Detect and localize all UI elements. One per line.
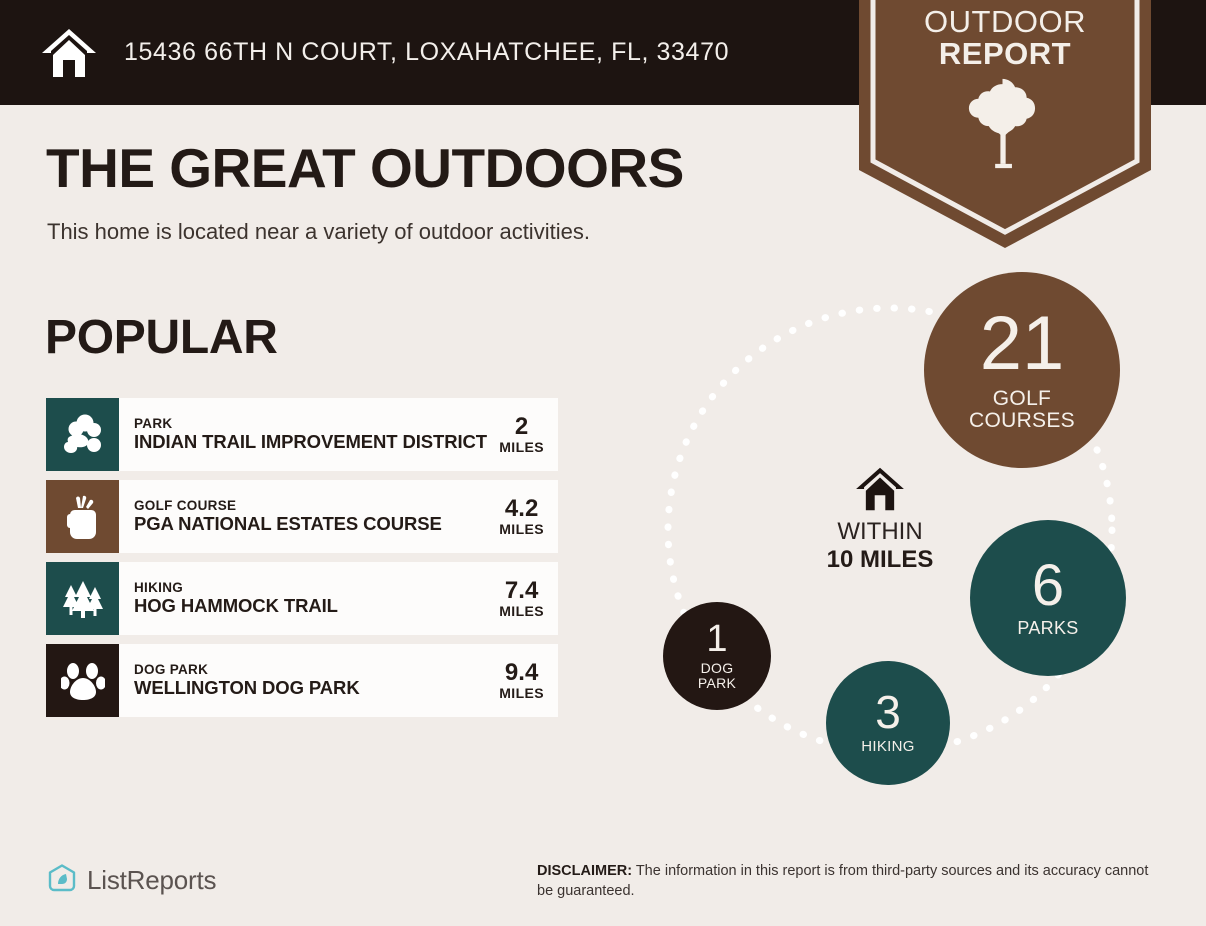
bubble-label: HIKING xyxy=(861,739,914,755)
bubble-parks: 6 PARKS xyxy=(970,520,1126,676)
footer: ListReports DISCLAIMER: The information … xyxy=(0,848,1206,926)
bubble-count: 1 xyxy=(706,621,727,657)
golf-bag-icon xyxy=(46,480,119,553)
bubble-label: PARKS xyxy=(1017,619,1078,638)
list-item-name: PGA NATIONAL ESTATES COURSE xyxy=(134,514,493,535)
property-address: 15436 66TH N COURT, LOXAHATCHEE, FL, 334… xyxy=(124,38,729,67)
list-item-distance: 7.4 MILES xyxy=(493,578,552,619)
list-item[interactable]: HIKING HOG HAMMOCK TRAIL 7.4 MILES xyxy=(46,562,558,635)
list-item-distance: 2 MILES xyxy=(493,414,552,455)
distance-unit: MILES xyxy=(499,439,544,455)
distance-unit: MILES xyxy=(499,685,544,701)
list-item-distance: 4.2 MILES xyxy=(493,496,552,537)
distance-unit: MILES xyxy=(499,603,544,619)
list-item[interactable]: PARK INDIAN TRAIL IMPROVEMENT DISTRICT 2… xyxy=(46,398,558,471)
list-item-name: HOG HAMMOCK TRAIL xyxy=(134,596,493,617)
list-item[interactable]: GOLF COURSE PGA NATIONAL ESTATES COURSE … xyxy=(46,480,558,553)
bubble-count: 3 xyxy=(875,691,901,735)
list-item-distance: 9.4 MILES xyxy=(493,660,552,701)
park-bush-icon xyxy=(46,398,119,471)
list-item-name: INDIAN TRAIL IMPROVEMENT DISTRICT xyxy=(134,432,493,453)
list-item-category: HIKING xyxy=(134,580,493,596)
distance-value: 7.4 xyxy=(499,578,544,603)
bubble-count: 21 xyxy=(980,308,1065,380)
disclaimer: DISCLAIMER: The information in this repo… xyxy=(537,862,1167,901)
list-item-category: PARK xyxy=(134,416,493,432)
bubble-count: 6 xyxy=(1032,558,1064,613)
list-item[interactable]: DOG PARK WELLINGTON DOG PARK 9.4 MILES xyxy=(46,644,558,717)
pine-trees-icon xyxy=(46,562,119,635)
home-icon xyxy=(790,466,970,512)
distance-unit: MILES xyxy=(499,521,544,537)
distance-value: 9.4 xyxy=(499,660,544,685)
list-item-name: WELLINGTON DOG PARK xyxy=(134,678,493,699)
brand-logo[interactable]: ListReports xyxy=(46,862,216,899)
paw-print-icon xyxy=(46,644,119,717)
listreports-house-pin-icon xyxy=(46,862,78,899)
disclaimer-label: DISCLAIMER: xyxy=(537,863,632,879)
center-line-2: 10 MILES xyxy=(790,546,970,574)
bubble-dog-park: 1 DOG PARK xyxy=(663,602,771,710)
bubble-hiking: 3 HIKING xyxy=(826,661,950,785)
distance-value: 2 xyxy=(499,414,544,439)
diagram-center-label: WITHIN 10 MILES xyxy=(790,466,970,573)
distance-value: 4.2 xyxy=(499,496,544,521)
popular-heading: POPULAR xyxy=(45,314,278,362)
list-item-category: DOG PARK xyxy=(134,662,493,678)
bubble-label: GOLF COURSES xyxy=(969,388,1075,432)
bubble-golf-courses: 21 GOLF COURSES xyxy=(924,272,1120,468)
outdoor-report-page: 15436 66TH N COURT, LOXAHATCHEE, FL, 334… xyxy=(0,0,1206,926)
list-item-category: GOLF COURSE xyxy=(134,498,493,514)
page-title: THE GREAT OUTDOORS xyxy=(46,141,684,196)
bubble-label: DOG PARK xyxy=(698,661,736,690)
popular-list: PARK INDIAN TRAIL IMPROVEMENT DISTRICT 2… xyxy=(46,398,558,726)
outdoor-report-badge: OUTDOOR REPORT xyxy=(859,0,1151,250)
center-line-1: WITHIN xyxy=(790,518,970,546)
home-icon xyxy=(40,27,98,79)
page-subtitle: This home is located near a variety of o… xyxy=(47,219,590,245)
brand-name: ListReports xyxy=(87,865,216,896)
amenities-bubble-diagram: 21 GOLF COURSES 6 PARKS 3 HIKING 1 DOG P… xyxy=(600,250,1206,810)
